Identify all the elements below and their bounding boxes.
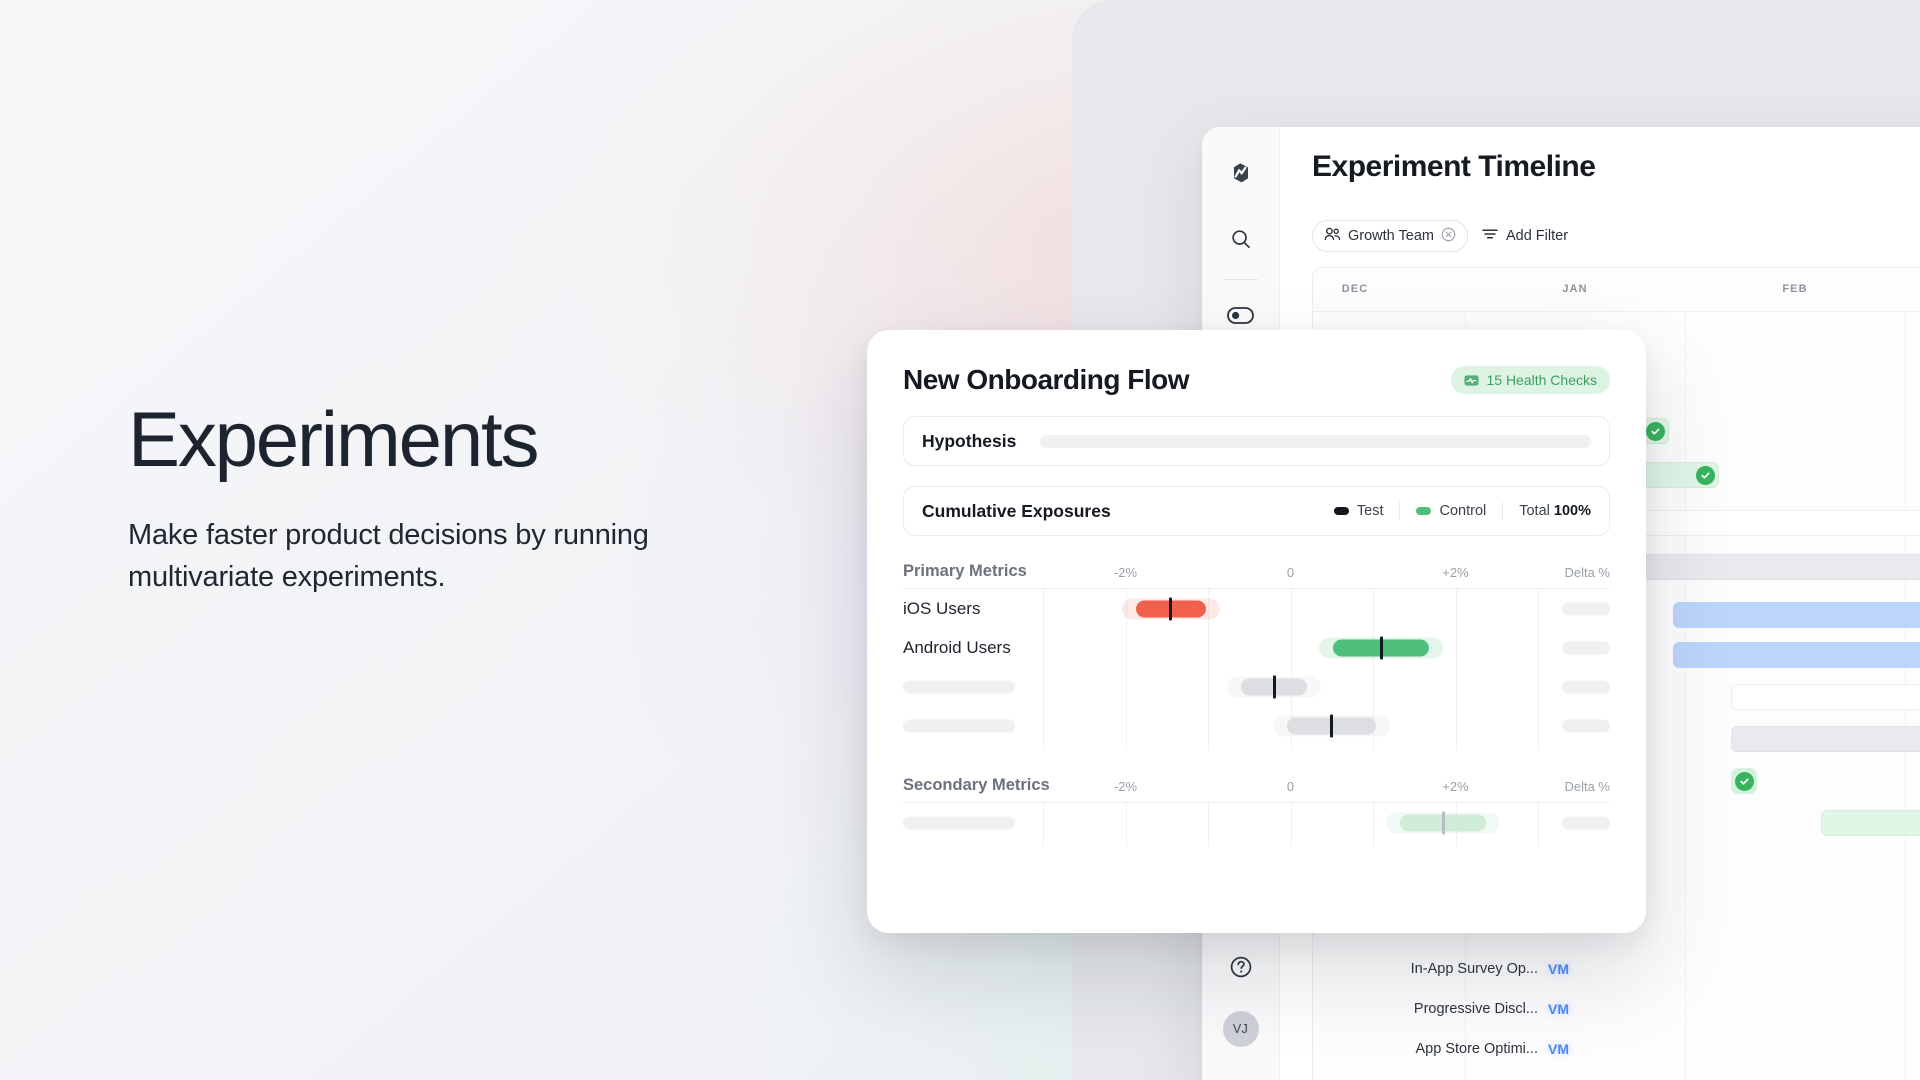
axis-tick-label: +2% bbox=[1442, 565, 1468, 580]
metric-label-placeholder bbox=[903, 680, 1015, 693]
modal-bottom-fade bbox=[867, 877, 1646, 933]
pulse-icon bbox=[1464, 374, 1479, 387]
filter-bar: Growth Team Add Filter bbox=[1312, 220, 1572, 252]
avatar-initials: VJ bbox=[1233, 1022, 1248, 1036]
delta-placeholder bbox=[1562, 719, 1610, 732]
avatar[interactable]: VJ bbox=[1223, 1011, 1259, 1047]
legend-test: Test bbox=[1318, 503, 1400, 519]
secondary-metrics-table: Secondary Metrics Delta % -2%0+2% bbox=[903, 776, 1610, 847]
check-icon bbox=[1646, 422, 1665, 441]
help-icon[interactable] bbox=[1221, 947, 1261, 987]
delta-placeholder bbox=[1562, 641, 1610, 654]
hypothesis-panel[interactable]: Hypothesis bbox=[903, 416, 1610, 466]
list-item-owner: VM bbox=[1548, 1001, 1569, 1017]
list-item-owner: VM bbox=[1548, 1041, 1569, 1057]
check-icon bbox=[1735, 772, 1754, 791]
axis-tick-label: -2% bbox=[1114, 565, 1137, 580]
hypothesis-label: Hypothesis bbox=[922, 431, 1016, 452]
add-filter-button[interactable]: Add Filter bbox=[1478, 228, 1572, 244]
logo-mark-icon[interactable] bbox=[1221, 153, 1261, 193]
ci-point-estimate bbox=[1380, 636, 1383, 659]
toggle-icon[interactable] bbox=[1221, 295, 1261, 335]
timeline-bar[interactable] bbox=[1613, 510, 1920, 536]
health-checks-badge[interactable]: 15 Health Checks bbox=[1451, 366, 1610, 394]
metric-row[interactable]: iOS Users bbox=[903, 589, 1610, 628]
list-item[interactable]: In-App Survey Op...VM bbox=[1313, 949, 1583, 989]
list-item[interactable]: App Store Optimi...VM bbox=[1313, 1029, 1583, 1069]
delta-placeholder bbox=[1562, 602, 1610, 615]
legend-control-label: Control bbox=[1439, 503, 1486, 519]
timeline-month-header: DECJANFEBMAR bbox=[1313, 268, 1920, 312]
timeline-bar[interactable] bbox=[1731, 684, 1920, 710]
ci-point-estimate bbox=[1169, 597, 1172, 620]
secondary-metrics-title: Secondary Metrics bbox=[903, 776, 1050, 795]
list-item[interactable]: Progressive Discl...VM bbox=[1313, 989, 1583, 1029]
list-item-label: App Store Optimi... bbox=[1416, 1041, 1539, 1057]
exposures-legend: Test Control Total 100% bbox=[1318, 502, 1591, 520]
metric-row[interactable]: Android Users bbox=[903, 628, 1610, 667]
list-item-label: Progressive Discl... bbox=[1414, 1001, 1538, 1017]
timeline-month-label: FEB bbox=[1782, 283, 1807, 295]
legend-control: Control bbox=[1400, 503, 1502, 519]
primary-delta-header: Delta % bbox=[1564, 565, 1610, 580]
confidence-interval bbox=[1241, 678, 1307, 695]
people-icon bbox=[1324, 227, 1341, 245]
axis-tick-label: +2% bbox=[1442, 779, 1468, 794]
confidence-interval bbox=[1136, 600, 1205, 617]
ci-point-estimate bbox=[1442, 811, 1445, 834]
health-checks-label: 15 Health Checks bbox=[1486, 372, 1597, 388]
page-root: VJ Experiment Timeline Growth Team bbox=[0, 0, 1920, 1080]
check-icon bbox=[1696, 466, 1715, 485]
legend-test-label: Test bbox=[1357, 503, 1384, 519]
filter-lines-icon bbox=[1482, 228, 1498, 244]
legend-swatch-control bbox=[1416, 507, 1431, 515]
confidence-interval bbox=[1333, 639, 1429, 656]
modal-title: New Onboarding Flow bbox=[903, 364, 1189, 396]
legend-total-label: Total bbox=[1519, 503, 1550, 519]
primary-metrics-title: Primary Metrics bbox=[903, 562, 1027, 581]
sidebar-divider bbox=[1224, 279, 1258, 280]
ci-point-estimate bbox=[1330, 714, 1333, 737]
list-item-label: In-App Survey Op... bbox=[1411, 961, 1538, 977]
timeline-bar[interactable] bbox=[1673, 602, 1920, 628]
hero-title: Experiments bbox=[128, 400, 828, 478]
axis-tick-label: 0 bbox=[1287, 565, 1294, 580]
modal-header: New Onboarding Flow 15 Health Checks bbox=[903, 364, 1610, 396]
experiment-detail-modal: New Onboarding Flow 15 Health Checks Hyp… bbox=[867, 330, 1646, 933]
timeline-bar[interactable] bbox=[1673, 642, 1920, 668]
experiment-list: In-App Survey Op...VMProgressive Discl..… bbox=[1313, 949, 1583, 1080]
filter-chip-growth-team[interactable]: Growth Team bbox=[1312, 220, 1468, 252]
add-filter-label: Add Filter bbox=[1506, 228, 1568, 244]
cumulative-exposures-panel[interactable]: Cumulative Exposures Test Control Total … bbox=[903, 486, 1610, 536]
metric-row[interactable] bbox=[903, 667, 1610, 706]
metric-label: iOS Users bbox=[903, 599, 980, 619]
secondary-metrics-header: Secondary Metrics Delta % -2%0+2% bbox=[903, 776, 1610, 802]
primary-metrics-header: Primary Metrics Delta % -2%0+2% bbox=[903, 562, 1610, 588]
secondary-metrics-body bbox=[903, 802, 1610, 847]
timeline-month-label: DEC bbox=[1342, 283, 1369, 295]
delta-placeholder bbox=[1562, 680, 1610, 693]
delta-placeholder bbox=[1562, 816, 1610, 829]
hero-subtitle: Make faster product decisions by running… bbox=[128, 514, 728, 598]
hero: Experiments Make faster product decision… bbox=[128, 400, 828, 598]
timeline-status-badge[interactable] bbox=[1731, 768, 1757, 794]
timeline-gridline bbox=[1685, 312, 1686, 1080]
timeline-bar[interactable] bbox=[1731, 726, 1920, 752]
primary-metrics-table: Primary Metrics Delta % -2%0+2% iOS User… bbox=[903, 562, 1610, 750]
legend-swatch-test bbox=[1334, 507, 1349, 515]
metric-row[interactable] bbox=[903, 803, 1610, 842]
metric-label: Android Users bbox=[903, 638, 1011, 658]
metric-label-placeholder bbox=[903, 719, 1015, 732]
legend-total: Total 100% bbox=[1503, 503, 1591, 519]
metric-label-placeholder bbox=[903, 816, 1015, 829]
search-icon[interactable] bbox=[1221, 219, 1261, 259]
timeline-bar[interactable] bbox=[1821, 810, 1920, 836]
list-item-owner: VM bbox=[1548, 961, 1569, 977]
metric-row[interactable] bbox=[903, 706, 1610, 745]
primary-metrics-body: iOS UsersAndroid Users bbox=[903, 588, 1610, 750]
axis-tick-label: 0 bbox=[1287, 779, 1294, 794]
timeline-month-label: JAN bbox=[1562, 283, 1587, 295]
confidence-interval bbox=[1287, 717, 1376, 734]
ci-point-estimate bbox=[1273, 675, 1276, 698]
secondary-delta-header: Delta % bbox=[1564, 779, 1610, 794]
cumulative-exposures-label: Cumulative Exposures bbox=[922, 501, 1111, 522]
hypothesis-placeholder bbox=[1040, 435, 1591, 448]
axis-tick-label: -2% bbox=[1114, 779, 1137, 794]
filter-chip-label: Growth Team bbox=[1348, 228, 1434, 244]
close-icon[interactable] bbox=[1441, 227, 1456, 245]
confidence-interval bbox=[1400, 814, 1486, 831]
page-title: Experiment Timeline bbox=[1312, 150, 1595, 184]
legend-total-value: 100% bbox=[1554, 503, 1591, 519]
